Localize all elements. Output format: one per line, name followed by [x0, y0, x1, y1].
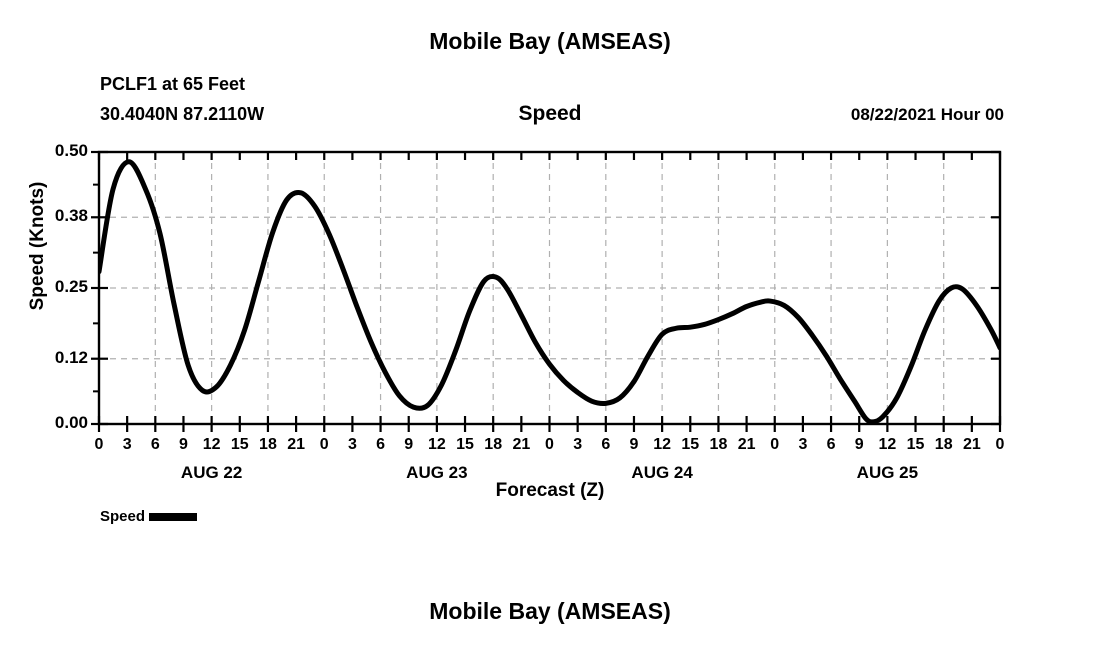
x-tick-label: 18	[935, 436, 953, 454]
y-tick-label: 0.12	[30, 348, 88, 368]
x-tick-label: 6	[601, 436, 610, 454]
x-tick-label: 9	[630, 436, 639, 454]
y-tick-label: 0.25	[30, 277, 88, 297]
bottom-title: Mobile Bay (AMSEAS)	[0, 598, 1100, 625]
x-tick-label: 3	[348, 436, 357, 454]
day-label: AUG 24	[631, 463, 692, 483]
x-tick-label: 3	[123, 436, 132, 454]
x-tick-label: 6	[151, 436, 160, 454]
x-tick-label: 0	[545, 436, 554, 454]
legend-color-swatch	[149, 513, 197, 521]
x-tick-label: 18	[710, 436, 728, 454]
x-tick-label: 18	[259, 436, 277, 454]
x-tick-label: 21	[963, 436, 981, 454]
x-tick-label: 0	[320, 436, 329, 454]
x-tick-label: 0	[95, 436, 104, 454]
day-label: AUG 22	[181, 463, 242, 483]
speed-timeseries-plot	[0, 0, 1100, 650]
x-tick-label: 15	[681, 436, 699, 454]
x-axis-label: Forecast (Z)	[350, 480, 750, 502]
x-tick-label: 0	[770, 436, 779, 454]
x-tick-label: 9	[179, 436, 188, 454]
day-label: AUG 23	[406, 463, 467, 483]
x-tick-label: 18	[484, 436, 502, 454]
y-axis-label: Speed (Knots)	[27, 146, 49, 346]
x-tick-label: 12	[878, 436, 896, 454]
x-tick-label: 3	[798, 436, 807, 454]
y-tick-label: 0.00	[30, 413, 88, 433]
x-tick-label: 12	[653, 436, 671, 454]
x-tick-label: 6	[827, 436, 836, 454]
x-tick-label: 12	[428, 436, 446, 454]
x-tick-label: 9	[404, 436, 413, 454]
legend-label: Speed	[100, 508, 145, 525]
y-tick-label: 0.38	[30, 206, 88, 226]
x-tick-label: 12	[203, 436, 221, 454]
x-tick-label: 15	[231, 436, 249, 454]
x-tick-label: 6	[376, 436, 385, 454]
x-tick-label: 0	[996, 436, 1005, 454]
day-label: AUG 25	[857, 463, 918, 483]
chart-page: Mobile Bay (AMSEAS) PCLF1 at 65 Feet 30.…	[0, 0, 1100, 650]
x-tick-label: 15	[456, 436, 474, 454]
plot-area: Speed (Knots) Forecast (Z) 0.000.120.250…	[0, 0, 1100, 650]
legend: Speed	[100, 508, 197, 525]
x-tick-label: 15	[907, 436, 925, 454]
x-tick-label: 21	[738, 436, 756, 454]
x-tick-label: 21	[512, 436, 530, 454]
y-tick-label: 0.50	[30, 141, 88, 161]
x-tick-label: 3	[573, 436, 582, 454]
x-tick-label: 9	[855, 436, 864, 454]
x-tick-label: 21	[287, 436, 305, 454]
